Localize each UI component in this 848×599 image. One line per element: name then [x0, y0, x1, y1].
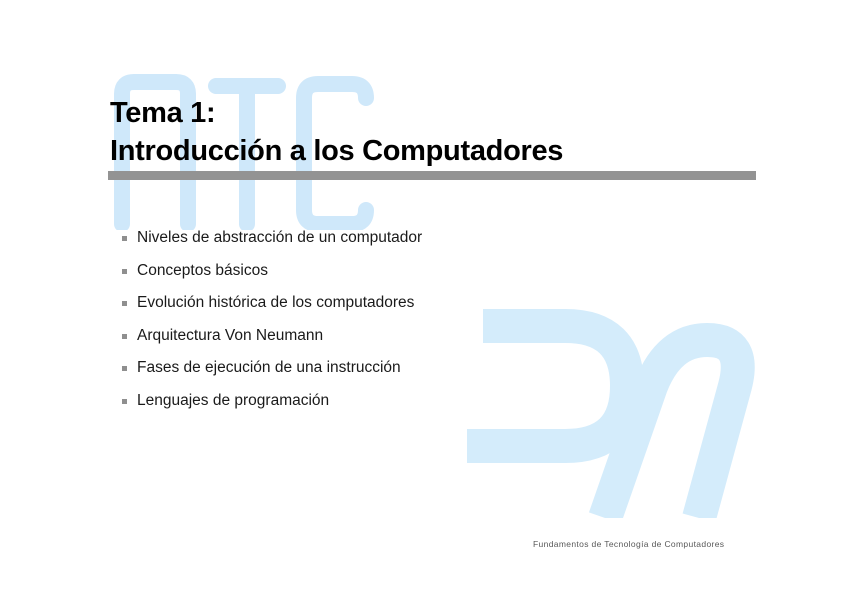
list-item: Lenguajes de programación [120, 391, 640, 411]
title-line-1: Tema 1: [110, 94, 770, 132]
square-bullet-icon [122, 301, 127, 306]
square-bullet-icon [122, 269, 127, 274]
list-item: Arquitectura Von Neumann [120, 326, 640, 346]
square-bullet-icon [122, 334, 127, 339]
slide-title: Tema 1: Introducción a los Computadores [110, 94, 770, 170]
list-item-label: Arquitectura Von Neumann [137, 327, 323, 344]
list-item-label: Evolución histórica de los computadores [137, 294, 414, 311]
list-item: Niveles de abstracción de un computador [120, 228, 640, 248]
slide-footer: Fundamentos de Tecnología de Computadore… [533, 539, 724, 549]
list-item: Evolución histórica de los computadores [120, 293, 640, 313]
agenda-bullet-list: Niveles de abstracción de un computador … [120, 228, 640, 423]
list-item: Fases de ejecución de una instrucción [120, 358, 640, 378]
title-divider-rule [108, 171, 756, 180]
title-line-2: Introducción a los Computadores [110, 132, 770, 170]
square-bullet-icon [122, 366, 127, 371]
list-item-label: Fases de ejecución de una instrucción [137, 359, 401, 376]
list-item-label: Conceptos básicos [137, 262, 268, 279]
list-item: Conceptos básicos [120, 261, 640, 281]
list-item-label: Niveles de abstracción de un computador [137, 229, 422, 246]
square-bullet-icon [122, 236, 127, 241]
slide-canvas: Tema 1: Introducción a los Computadores … [0, 0, 848, 599]
list-item-label: Lenguajes de programación [137, 392, 329, 409]
square-bullet-icon [122, 399, 127, 404]
